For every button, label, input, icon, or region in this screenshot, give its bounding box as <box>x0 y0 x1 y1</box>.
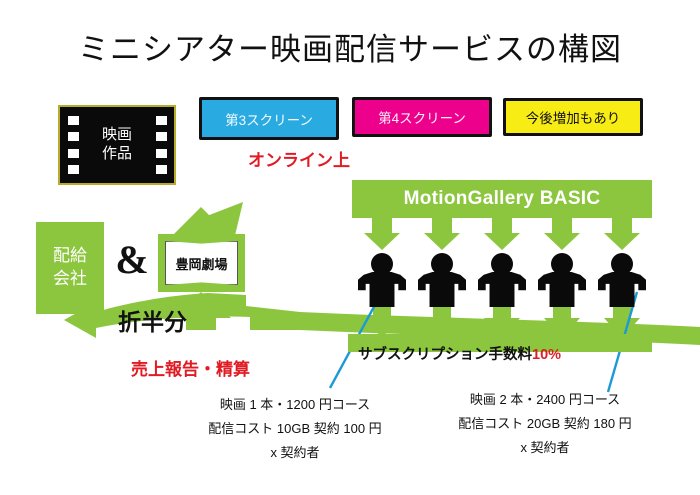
online-label: オンライン上 <box>248 146 350 171</box>
diagram-canvas: ミニシアター映画配信サービスの構図 第3スクリーン 第4スクリーン 今後増加もあ… <box>0 0 700 495</box>
person-body-icon <box>478 272 526 307</box>
subscription-fee-label: サブスクリプション手数料10% <box>358 343 561 364</box>
caption-right-line1: 映画 2 本・2400 円コース <box>430 388 660 412</box>
arrow-down-icon <box>364 218 400 250</box>
subscriber-person <box>598 253 646 307</box>
screen-box-4-label: 第4スクリーン <box>378 107 466 127</box>
screen-box-future-label: 今後増加もあり <box>526 107 621 127</box>
film-perf <box>68 116 79 125</box>
subscriber-person <box>358 253 406 307</box>
subscription-fee-text: サブスクリプション手数料 <box>358 347 532 363</box>
subscriber-person <box>538 253 586 307</box>
motiongallery-bar: MotionGallery BASIC <box>352 180 652 218</box>
film-perf <box>156 116 167 125</box>
caption-left-line1: 映画 1 本・1200 円コース <box>185 393 405 417</box>
half-split-label: 折半分 <box>118 303 187 337</box>
person-body-icon <box>358 272 406 307</box>
distributor-block: 配給 会社 <box>36 222 104 314</box>
screen-box-4: 第4スクリーン <box>352 97 492 137</box>
caption-left-line3: x 契約者 <box>185 441 405 465</box>
arrow-down-icon <box>604 218 640 250</box>
film-perf <box>156 149 167 158</box>
theatre-label: 豊岡劇場 <box>175 254 227 273</box>
person-head-icon <box>371 253 393 275</box>
arrow-down-icon <box>484 218 520 250</box>
sales-report-label: 売上報告・精算 <box>131 355 250 380</box>
theatre-label-box: 豊岡劇場 <box>165 241 238 285</box>
screen-box-3-label: 第3スクリーン <box>225 109 313 129</box>
person-body-icon <box>538 272 586 307</box>
page-title: ミニシアター映画配信サービスの構図 <box>0 24 700 69</box>
person-head-icon <box>491 253 513 275</box>
person-head-icon <box>611 253 633 275</box>
film-perf <box>68 132 79 141</box>
subscriber-person <box>478 253 526 307</box>
film-perf <box>156 132 167 141</box>
person-head-icon <box>431 253 453 275</box>
film-perforations-right <box>151 107 171 183</box>
subscription-fee-percent: 10% <box>532 347 561 363</box>
person-head-icon <box>551 253 573 275</box>
film-perf <box>156 165 167 174</box>
screen-box-3: 第3スクリーン <box>199 97 339 140</box>
film-perf <box>68 165 79 174</box>
arrow-down-icon <box>544 218 580 250</box>
person-body-icon <box>418 272 466 307</box>
distributor-line2: 会社 <box>53 268 87 291</box>
caption-left: 映画 1 本・1200 円コース 配信コスト 10GB 契約 100 円 x 契… <box>185 393 405 465</box>
distributor-line1: 配給 <box>53 245 87 268</box>
caption-right-line2: 配信コスト 20GB 契約 180 円 <box>430 412 660 436</box>
motiongallery-label: MotionGallery BASIC <box>404 188 601 210</box>
caption-left-line2: 配信コスト 10GB 契約 100 円 <box>185 417 405 441</box>
arrow-down-icon <box>424 218 460 250</box>
caption-right: 映画 2 本・2400 円コース 配信コスト 20GB 契約 180 円 x 契… <box>430 388 660 460</box>
film-perforations-left <box>63 107 83 183</box>
arrows-mg-to-people <box>364 218 640 250</box>
film-perf <box>68 149 79 158</box>
film-strip-line2: 作品 <box>102 145 132 164</box>
subscriber-person <box>418 253 466 307</box>
person-body-icon <box>598 272 646 307</box>
caption-right-line3: x 契約者 <box>430 436 660 460</box>
ampersand-symbol: & <box>110 240 154 280</box>
screen-box-future: 今後増加もあり <box>503 98 643 136</box>
film-strip-text: 映画 作品 <box>84 107 150 183</box>
film-strip-icon: 映画 作品 <box>58 105 176 185</box>
film-strip-line1: 映画 <box>102 126 132 145</box>
